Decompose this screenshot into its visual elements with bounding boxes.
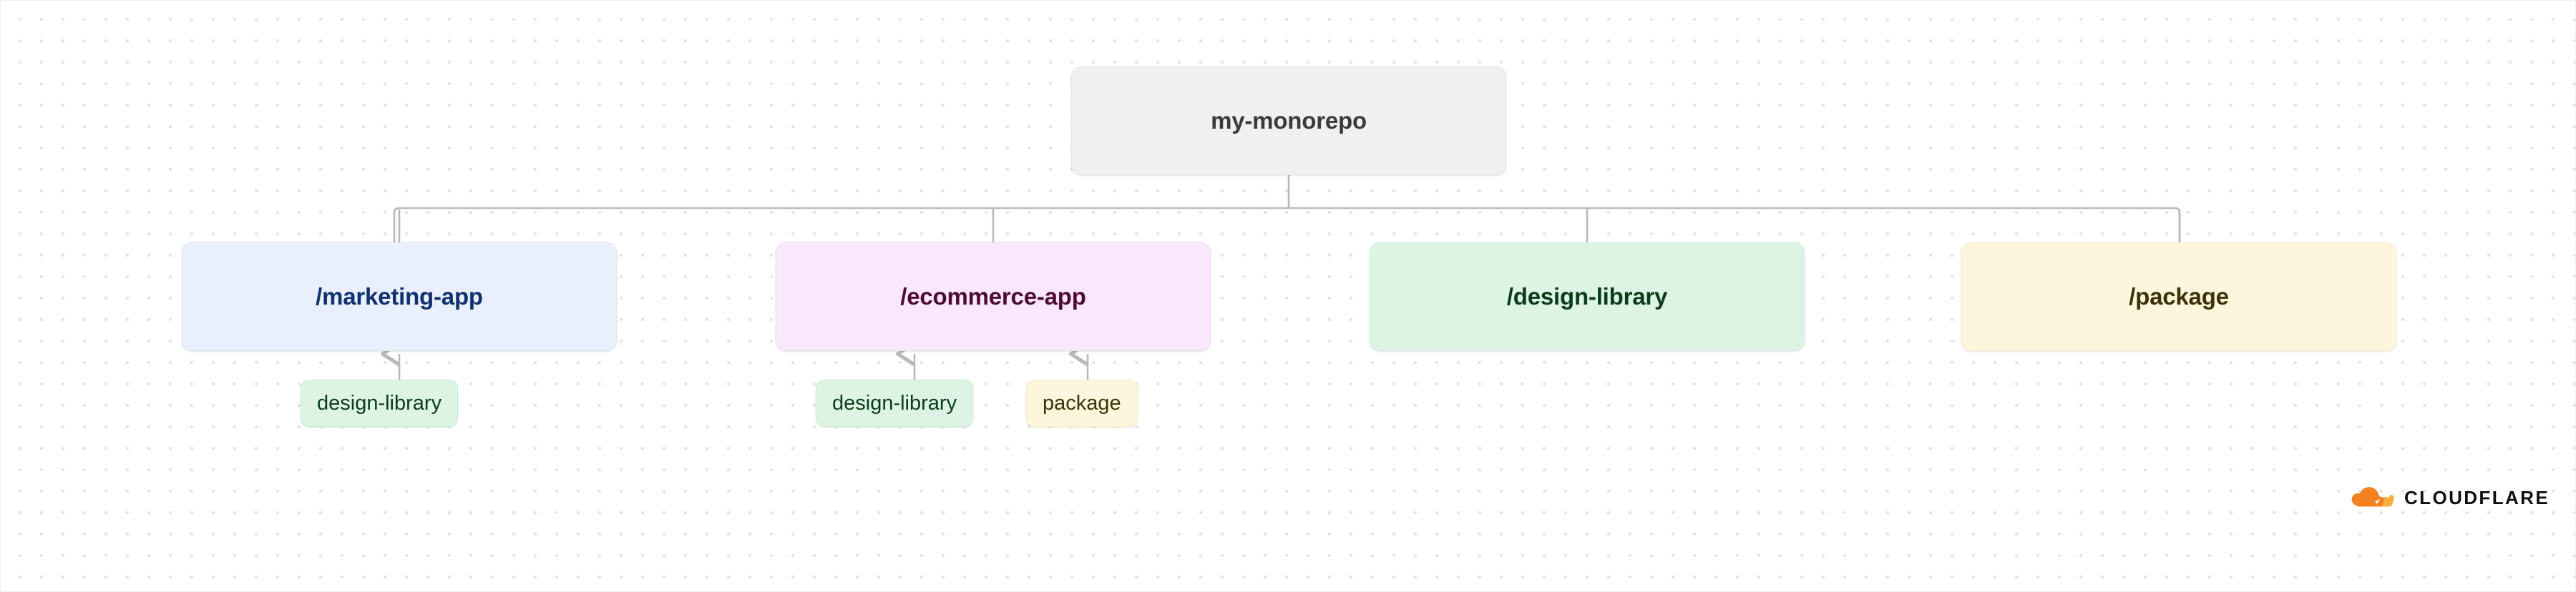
node-ecommerce-app[interactable]: /ecommerce-app: [776, 242, 1211, 351]
edge-root-to-package: [394, 208, 399, 242]
dependency-pill-design-library[interactable]: design-library: [816, 380, 973, 427]
dependency-pill-label: design-library: [317, 392, 441, 415]
node-my-monorepo[interactable]: my-monorepo: [1071, 66, 1506, 175]
dependency-pill-label: package: [1043, 392, 1121, 415]
cloudflare-logo: CLOUDFLARE: [2351, 487, 2550, 508]
node-label: /package: [2129, 283, 2229, 310]
node-label: /marketing-app: [316, 283, 483, 310]
dependency-pill-design-library[interactable]: design-library: [301, 380, 458, 427]
cloudflare-cloud-icon: [2351, 487, 2396, 508]
node-marketing-app[interactable]: /marketing-app: [182, 242, 617, 351]
diagram-canvas[interactable]: my-monorepo /marketing-app /ecommerce-ap…: [0, 0, 2576, 592]
dependency-pill-label: design-library: [832, 392, 957, 415]
edge-root-to-marketing: [2175, 208, 2180, 242]
node-package[interactable]: /package: [1961, 242, 2396, 351]
node-label: /ecommerce-app: [900, 283, 1085, 310]
node-label: /design-library: [1507, 283, 1667, 310]
node-design-library[interactable]: /design-library: [1370, 242, 1805, 351]
dependency-pill-package[interactable]: package: [1026, 380, 1138, 427]
node-label: my-monorepo: [1211, 107, 1367, 134]
cloudflare-wordmark: CLOUDFLARE: [2404, 488, 2550, 507]
